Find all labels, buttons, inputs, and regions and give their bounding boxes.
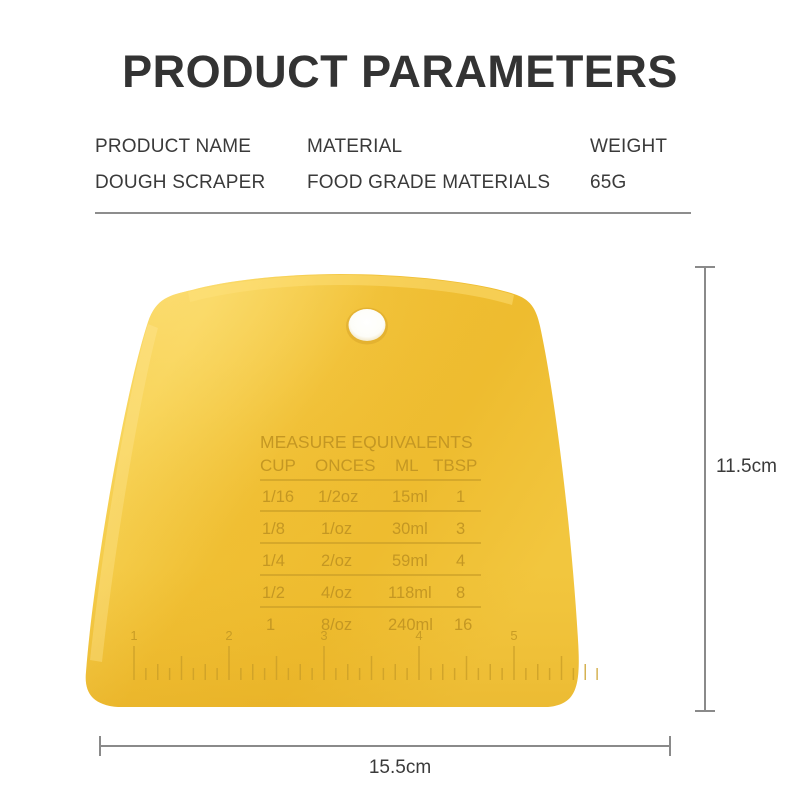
cell-ml: 15ml	[392, 488, 428, 506]
cell-cup: 1/2	[262, 584, 285, 602]
spec-header-row: PRODUCT NAME MATERIAL WEIGHT	[95, 136, 691, 172]
cell-tbsp: 4	[456, 552, 465, 570]
spec-value-row: DOUGH SCRAPER FOOD GRADE MATERIALS 65G	[95, 172, 691, 208]
hanging-hole	[346, 308, 388, 345]
spec-value-material: FOOD GRADE MATERIALS	[307, 172, 590, 194]
width-dimension-line	[100, 745, 670, 747]
cell-onces: 2/oz	[321, 552, 352, 570]
ruler-label: 3	[320, 628, 327, 643]
cell-onces: 1/2oz	[318, 488, 358, 506]
cell-ml: 30ml	[392, 520, 428, 538]
spec-header-material: MATERIAL	[307, 136, 590, 158]
measure-table-title: MEASURE EQUIVALENTS	[260, 432, 473, 452]
cell-cup: 1/4	[262, 552, 285, 570]
cell-ml: 118ml	[388, 584, 432, 602]
spec-value-weight: 65G	[590, 172, 691, 194]
cell-tbsp: 16	[454, 616, 472, 634]
measure-col-tbsp: TBSP	[433, 456, 477, 475]
cell-cup: 1/16	[262, 488, 294, 506]
product-image: MEASURE EQUIVALENTS CUP ONCES ML TBSP 1/…	[78, 268, 598, 720]
height-dimension-cap-bottom	[695, 710, 715, 712]
spec-divider	[95, 212, 691, 214]
dough-scraper-illustration: MEASURE EQUIVALENTS CUP ONCES ML TBSP 1/…	[78, 268, 598, 720]
ruler-label: 2	[225, 628, 232, 643]
width-dimension-cap-left	[99, 736, 101, 756]
spec-value-product-name: DOUGH SCRAPER	[95, 172, 307, 194]
cell-cup: 1	[266, 616, 275, 634]
measure-col-ml: ML	[395, 456, 419, 475]
cell-tbsp: 8	[456, 584, 465, 602]
cell-tbsp: 1	[456, 488, 465, 506]
cell-ml: 59ml	[392, 552, 428, 570]
width-dimension-cap-right	[669, 736, 671, 756]
measure-col-onces: ONCES	[315, 456, 375, 475]
cell-tbsp: 3	[456, 520, 465, 538]
spec-table: PRODUCT NAME MATERIAL WEIGHT DOUGH SCRAP…	[95, 136, 691, 208]
cell-ml: 240ml	[388, 616, 433, 634]
height-dimension-label: 11.5cm	[716, 456, 777, 478]
width-dimension-label: 15.5cm	[0, 757, 800, 779]
measure-col-cup: CUP	[260, 456, 296, 475]
ruler-label: 5	[510, 628, 517, 643]
height-dimension-cap-top	[695, 266, 715, 268]
product-parameters-page: PRODUCT PARAMETERS PRODUCT NAME MATERIAL…	[0, 0, 800, 800]
spec-header-product-name: PRODUCT NAME	[95, 136, 307, 158]
ruler-label: 1	[130, 628, 137, 643]
height-dimension-line	[704, 266, 706, 712]
spec-header-weight: WEIGHT	[590, 136, 691, 158]
page-title: PRODUCT PARAMETERS	[0, 46, 800, 98]
cell-onces: 4/oz	[321, 584, 352, 602]
ruler-label: 4	[415, 628, 422, 643]
cell-cup: 1/8	[262, 520, 285, 538]
cell-onces: 1/oz	[321, 520, 352, 538]
